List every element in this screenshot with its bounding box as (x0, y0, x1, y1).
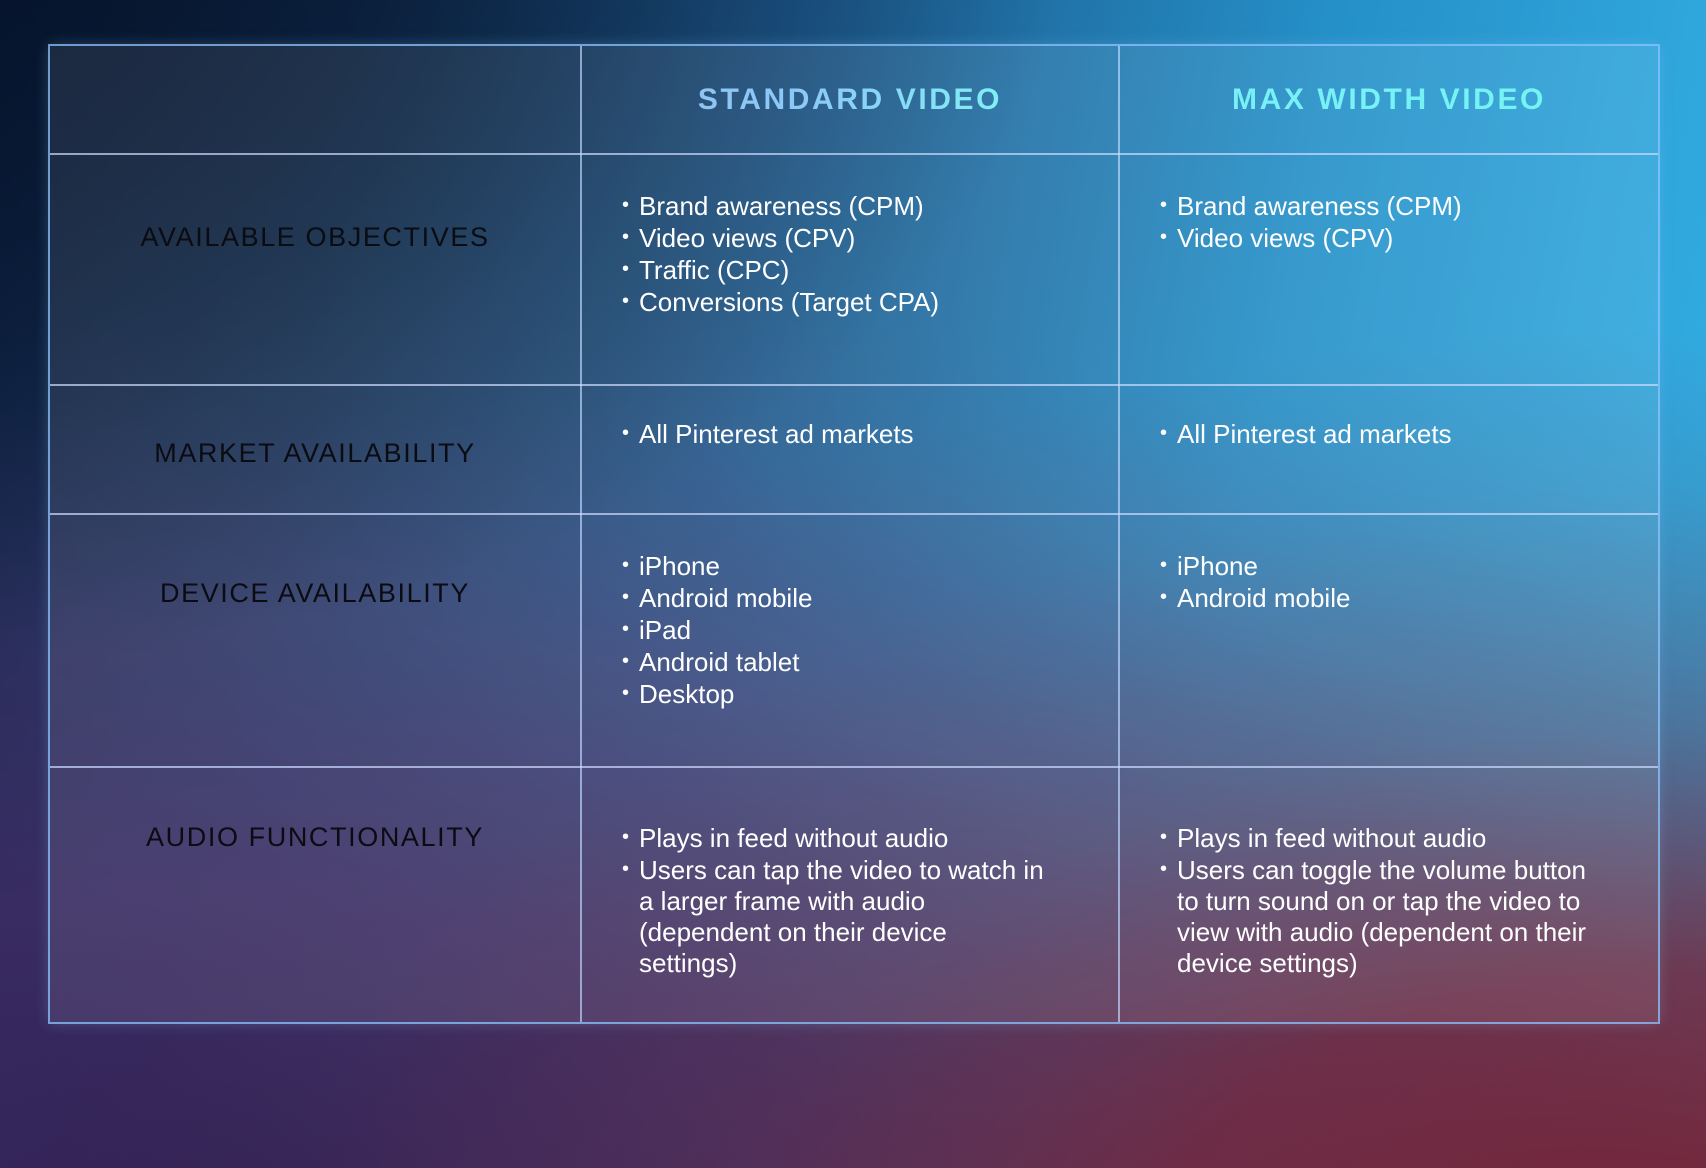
comparison-table: STANDARD VIDEO MAX WIDTH VIDEO AVAILABLE… (50, 46, 1658, 1022)
bullet-list: iPhoneAndroid mobile (1160, 551, 1630, 614)
bullet-item: Video views (CPV) (1160, 223, 1630, 254)
cell-device-availability-standard: iPhoneAndroid mobileiPadAndroid tabletDe… (581, 514, 1119, 767)
bullet-item: Conversions (Target CPA) (622, 287, 1090, 318)
bullet-list: Plays in feed without audioUsers can tog… (1160, 823, 1630, 979)
bullet-list: Plays in feed without audioUsers can tap… (622, 823, 1090, 979)
column-header-standard-video: STANDARD VIDEO (581, 46, 1119, 154)
table-row: AVAILABLE OBJECTIVES Brand awareness (CP… (50, 154, 1658, 385)
bullet-item: iPhone (622, 551, 1090, 582)
bullet-list: iPhoneAndroid mobileiPadAndroid tabletDe… (622, 551, 1090, 710)
bullet-item: Brand awareness (CPM) (622, 191, 1090, 222)
comparison-table-slide: STANDARD VIDEO MAX WIDTH VIDEO AVAILABLE… (0, 0, 1706, 1168)
cell-available-objectives-standard: Brand awareness (CPM)Video views (CPV)Tr… (581, 154, 1119, 385)
bullet-item: Plays in feed without audio (1160, 823, 1590, 854)
row-label-available-objectives: AVAILABLE OBJECTIVES (50, 154, 581, 385)
cell-market-availability-max: All Pinterest ad markets (1119, 385, 1658, 514)
bullet-list: All Pinterest ad markets (1160, 419, 1630, 450)
row-label-text: MARKET AVAILABILITY (50, 438, 580, 469)
table-header-row: STANDARD VIDEO MAX WIDTH VIDEO (50, 46, 1658, 154)
corner-header-cell (50, 46, 581, 154)
cell-audio-functionality-max: Plays in feed without audioUsers can tog… (1119, 767, 1658, 1022)
row-label-audio-functionality: AUDIO FUNCTIONALITY (50, 767, 581, 1022)
comparison-table-container: STANDARD VIDEO MAX WIDTH VIDEO AVAILABLE… (50, 46, 1658, 1022)
column-header-max-width-video-label: MAX WIDTH VIDEO (1232, 83, 1546, 117)
row-label-text: AUDIO FUNCTIONALITY (50, 822, 580, 853)
bullet-list: All Pinterest ad markets (622, 419, 1090, 450)
row-label-text: DEVICE AVAILABILITY (50, 578, 580, 609)
table-body: AVAILABLE OBJECTIVES Brand awareness (CP… (50, 154, 1658, 1022)
bullet-item: Android tablet (622, 647, 1090, 678)
row-label-device-availability: DEVICE AVAILABILITY (50, 514, 581, 767)
cell-audio-functionality-standard: Plays in feed without audioUsers can tap… (581, 767, 1119, 1022)
bullet-list: Brand awareness (CPM)Video views (CPV)Tr… (622, 191, 1090, 318)
bullet-item: Users can tap the video to watch in a la… (622, 855, 1052, 979)
row-label-text: AVAILABLE OBJECTIVES (50, 222, 580, 253)
bullet-item: Plays in feed without audio (622, 823, 1052, 854)
bullet-item: All Pinterest ad markets (1160, 419, 1630, 450)
table-row: AUDIO FUNCTIONALITY Plays in feed withou… (50, 767, 1658, 1022)
bullet-item: Users can toggle the volume button to tu… (1160, 855, 1590, 979)
bullet-item: Android mobile (1160, 583, 1630, 614)
bullet-item: All Pinterest ad markets (622, 419, 1090, 450)
cell-available-objectives-max: Brand awareness (CPM)Video views (CPV) (1119, 154, 1658, 385)
column-header-standard-video-label: STANDARD VIDEO (698, 83, 1002, 117)
bullet-item: Desktop (622, 679, 1090, 710)
bullet-item: iPhone (1160, 551, 1630, 582)
bullet-item: Android mobile (622, 583, 1090, 614)
table-row: DEVICE AVAILABILITY iPhoneAndroid mobile… (50, 514, 1658, 767)
bullet-item: Brand awareness (CPM) (1160, 191, 1630, 222)
cell-market-availability-standard: All Pinterest ad markets (581, 385, 1119, 514)
table-row: MARKET AVAILABILITY All Pinterest ad mar… (50, 385, 1658, 514)
bullet-item: Traffic (CPC) (622, 255, 1090, 286)
bullet-list: Brand awareness (CPM)Video views (CPV) (1160, 191, 1630, 254)
column-header-max-width-video: MAX WIDTH VIDEO (1119, 46, 1658, 154)
bullet-item: Video views (CPV) (622, 223, 1090, 254)
row-label-market-availability: MARKET AVAILABILITY (50, 385, 581, 514)
bullet-item: iPad (622, 615, 1090, 646)
cell-device-availability-max: iPhoneAndroid mobile (1119, 514, 1658, 767)
